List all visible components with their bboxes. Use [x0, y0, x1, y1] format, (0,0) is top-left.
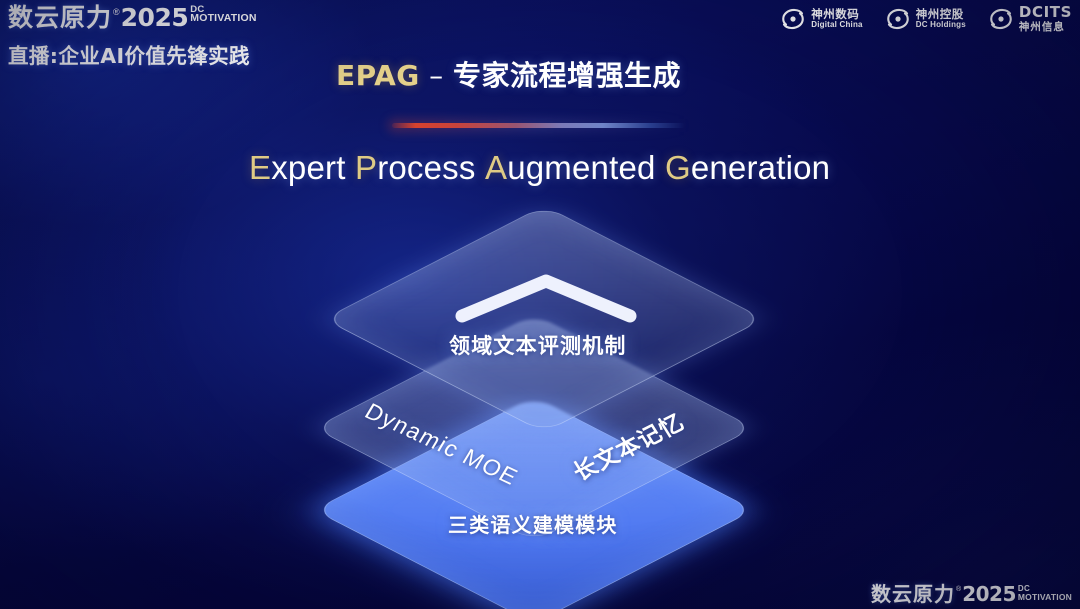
dcits-swirl-icon — [988, 6, 1014, 32]
dc-holdings-swirl-icon — [885, 6, 911, 32]
subtitle-rest-0: xpert — [271, 149, 345, 186]
title-dash: – — [420, 59, 453, 92]
brand-registered-mark: ® — [113, 6, 120, 18]
slide-canvas: 数云原力 ® 2025 DC MOTIVATION 直播:企业AI价值先锋实践 — [0, 0, 1080, 609]
logo-en-2: 神州信息 — [1019, 22, 1072, 33]
brand-motivation-text: MOTIVATION — [190, 14, 256, 23]
title-chinese: 专家流程增强生成 — [453, 59, 681, 92]
logo-cn-1: 神州控股 — [916, 8, 966, 20]
logo-en-0: Digital China — [811, 21, 863, 29]
logo-dc-holdings: 神州控股 DC Holdings — [885, 6, 966, 32]
logo-dcits-text: DCITS 神州信息 — [1019, 5, 1072, 33]
stack-label-top: 领域文本评测机制 — [449, 330, 627, 360]
stack-label-bottom: 三类语义建模模块 — [448, 509, 618, 538]
watermark-registered-mark: ® — [956, 585, 961, 595]
logo-cn-2: DCITS — [1019, 5, 1072, 21]
partner-logo-bar: 神州数码 Digital China 神州控股 DC Holdings — [780, 5, 1072, 33]
logo-digital-china: 神州数码 Digital China — [780, 6, 863, 32]
brand-block: 数云原力 ® 2025 DC MOTIVATION 直播:企业AI价值先锋实践 — [8, 4, 308, 69]
brand-logotype: 数云原力 ® 2025 DC MOTIVATION — [8, 4, 308, 32]
gradient-divider — [392, 123, 685, 128]
brand-year: 2025 — [121, 4, 189, 32]
logo-cn-0: 神州数码 — [811, 8, 863, 20]
live-session-label: 直播:企业AI价值先锋实践 — [8, 39, 308, 69]
watermark-year: 2025 — [962, 583, 1016, 606]
subtitle-rest-3: eneration — [691, 149, 830, 186]
digital-china-swirl-icon — [780, 6, 806, 32]
watermark-motivation-text: MOTIVATION — [1018, 593, 1072, 601]
logo-en-1: DC Holdings — [916, 21, 966, 29]
watermark-dc-motivation: DC MOTIVATION — [1018, 585, 1072, 601]
logo-dcits: DCITS 神州信息 — [988, 5, 1072, 33]
brand-name-cn: 数云原力 — [8, 4, 112, 32]
title-acronym: EPAG — [336, 59, 420, 92]
subtitle-cap-0: E — [249, 149, 271, 186]
subtitle-cap-1: P — [355, 149, 377, 186]
brand-dc-motivation: DC MOTIVATION — [190, 5, 256, 23]
logo-dc-holdings-text: 神州控股 DC Holdings — [916, 8, 966, 30]
watermark-logo: 数云原力 ® 2025 DC MOTIVATION — [871, 583, 1072, 606]
watermark-name-cn: 数云原力 — [871, 583, 955, 606]
logo-digital-china-text: 神州数码 Digital China — [811, 8, 863, 30]
page-title: EPAG – 专家流程增强生成 — [336, 54, 681, 94]
chevron-up-icon — [455, 272, 637, 324]
